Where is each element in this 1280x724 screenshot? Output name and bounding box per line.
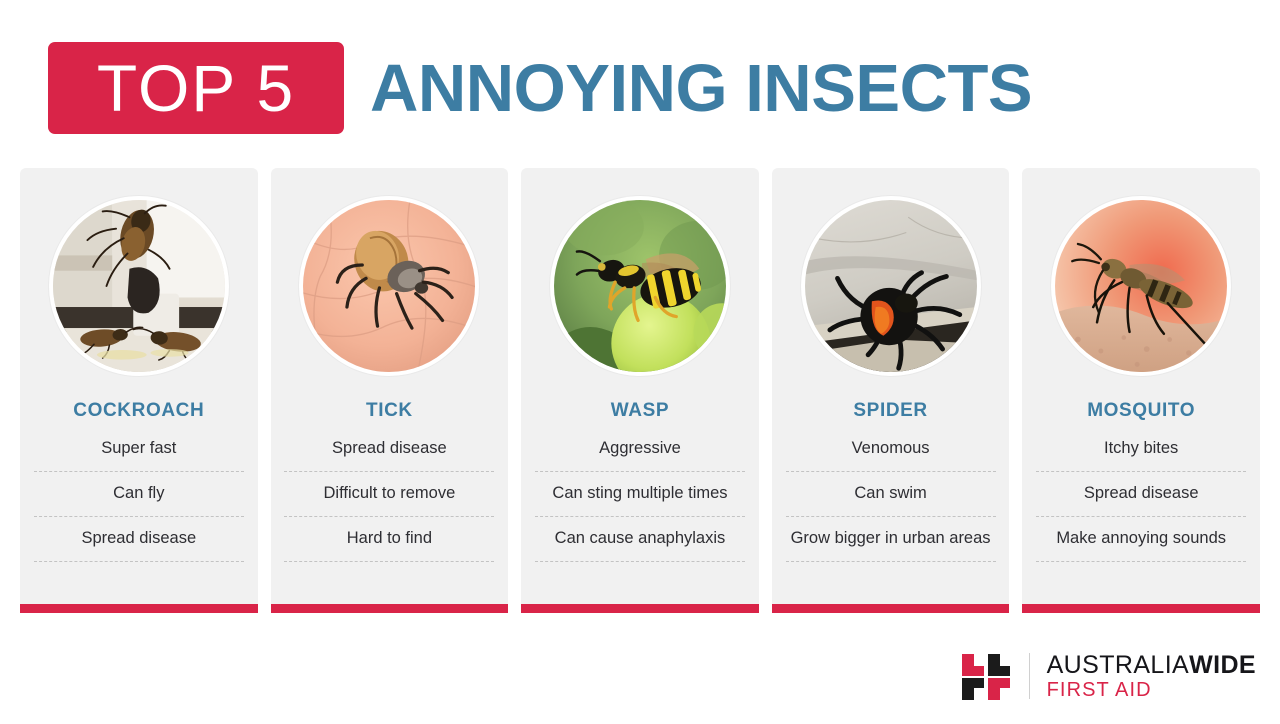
fact-item: Can sting multiple times: [535, 483, 745, 516]
tick-photo: [303, 200, 475, 372]
fact-item: Make annoying sounds: [1036, 528, 1246, 561]
card-title: COCKROACH: [73, 400, 204, 422]
rank-badge-label: TOP 5: [97, 55, 295, 121]
card-accent-bar: [521, 604, 759, 613]
fact-separator: [786, 471, 996, 472]
card-title: TICK: [366, 400, 413, 422]
spider-photo: [805, 200, 977, 372]
fact-item: Itchy bites: [1036, 438, 1246, 471]
logo-brand-bold: WIDE: [1189, 651, 1256, 679]
fact-item: Grow bigger in urban areas: [786, 528, 996, 561]
fact-separator: [34, 561, 244, 562]
logo-wordmark: AUSTRALIAWIDE FIRST AID: [1047, 651, 1256, 702]
fact-item: Spread disease: [34, 528, 244, 561]
fact-list: Itchy bites Spread disease Make annoying…: [1036, 438, 1246, 573]
fact-list: Super fast Can fly Spread disease: [34, 438, 244, 573]
fact-item: Spread disease: [1036, 483, 1246, 516]
insect-card: TICK Spread disease Difficult to remove …: [271, 168, 509, 613]
fact-item: Can cause anaphylaxis: [535, 528, 745, 561]
card-title: WASP: [611, 400, 669, 422]
fact-separator: [786, 516, 996, 517]
fact-separator: [786, 561, 996, 562]
infographic-page: TOP 5 ANNOYING INSECTS: [0, 0, 1280, 724]
fact-separator: [284, 561, 494, 562]
fact-list: Spread disease Difficult to remove Hard …: [284, 438, 494, 573]
card-accent-bar: [1022, 604, 1260, 613]
fact-separator: [1036, 516, 1246, 517]
fact-item: Difficult to remove: [284, 483, 494, 516]
fact-item: Venomous: [786, 438, 996, 471]
card-accent-bar: [20, 604, 258, 613]
fact-list: Venomous Can swim Grow bigger in urban a…: [786, 438, 996, 573]
fact-separator: [535, 516, 745, 517]
card-title: SPIDER: [853, 400, 927, 422]
fact-separator: [34, 471, 244, 472]
brand-logo: AUSTRALIAWIDE FIRST AID: [960, 650, 1256, 702]
fact-separator: [284, 471, 494, 472]
fact-item: Can swim: [786, 483, 996, 516]
insect-card-list: COCKROACH Super fast Can fly Spread dise…: [20, 168, 1260, 613]
fact-separator: [535, 561, 745, 562]
fact-item: Can fly: [34, 483, 244, 516]
fact-separator: [284, 516, 494, 517]
photo-frame: [550, 196, 730, 376]
page-title: ANNOYING INSECTS: [370, 55, 1032, 122]
australia-wide-cross-icon: [960, 650, 1012, 702]
fact-item: Aggressive: [535, 438, 745, 471]
photo-frame: [49, 196, 229, 376]
insect-card: MOSQUITO Itchy bites Spread disease Make…: [1022, 168, 1260, 613]
photo-frame: [299, 196, 479, 376]
fact-list: Aggressive Can sting multiple times Can …: [535, 438, 745, 573]
logo-tagline: FIRST AID: [1047, 679, 1256, 702]
photo-frame: [1051, 196, 1231, 376]
logo-brand-light: AUSTRALIA: [1047, 651, 1190, 679]
insect-card: SPIDER Venomous Can swim Grow bigger in …: [772, 168, 1010, 613]
rank-badge: TOP 5: [48, 42, 344, 134]
fact-separator: [34, 516, 244, 517]
photo-frame: [801, 196, 981, 376]
fact-item: Spread disease: [284, 438, 494, 471]
card-accent-bar: [772, 604, 1010, 613]
wasp-photo: [554, 200, 726, 372]
header: TOP 5 ANNOYING INSECTS: [48, 42, 1032, 134]
fact-item: Super fast: [34, 438, 244, 471]
card-title: MOSQUITO: [1087, 400, 1195, 422]
insect-card: COCKROACH Super fast Can fly Spread dise…: [20, 168, 258, 613]
fact-separator: [535, 471, 745, 472]
fact-separator: [1036, 561, 1246, 562]
logo-divider: [1029, 653, 1030, 699]
insect-card: WASP Aggressive Can sting multiple times…: [521, 168, 759, 613]
cockroach-photo: [53, 200, 225, 372]
fact-separator: [1036, 471, 1246, 472]
mosquito-photo: [1055, 200, 1227, 372]
fact-item: Hard to find: [284, 528, 494, 561]
card-accent-bar: [271, 604, 509, 613]
